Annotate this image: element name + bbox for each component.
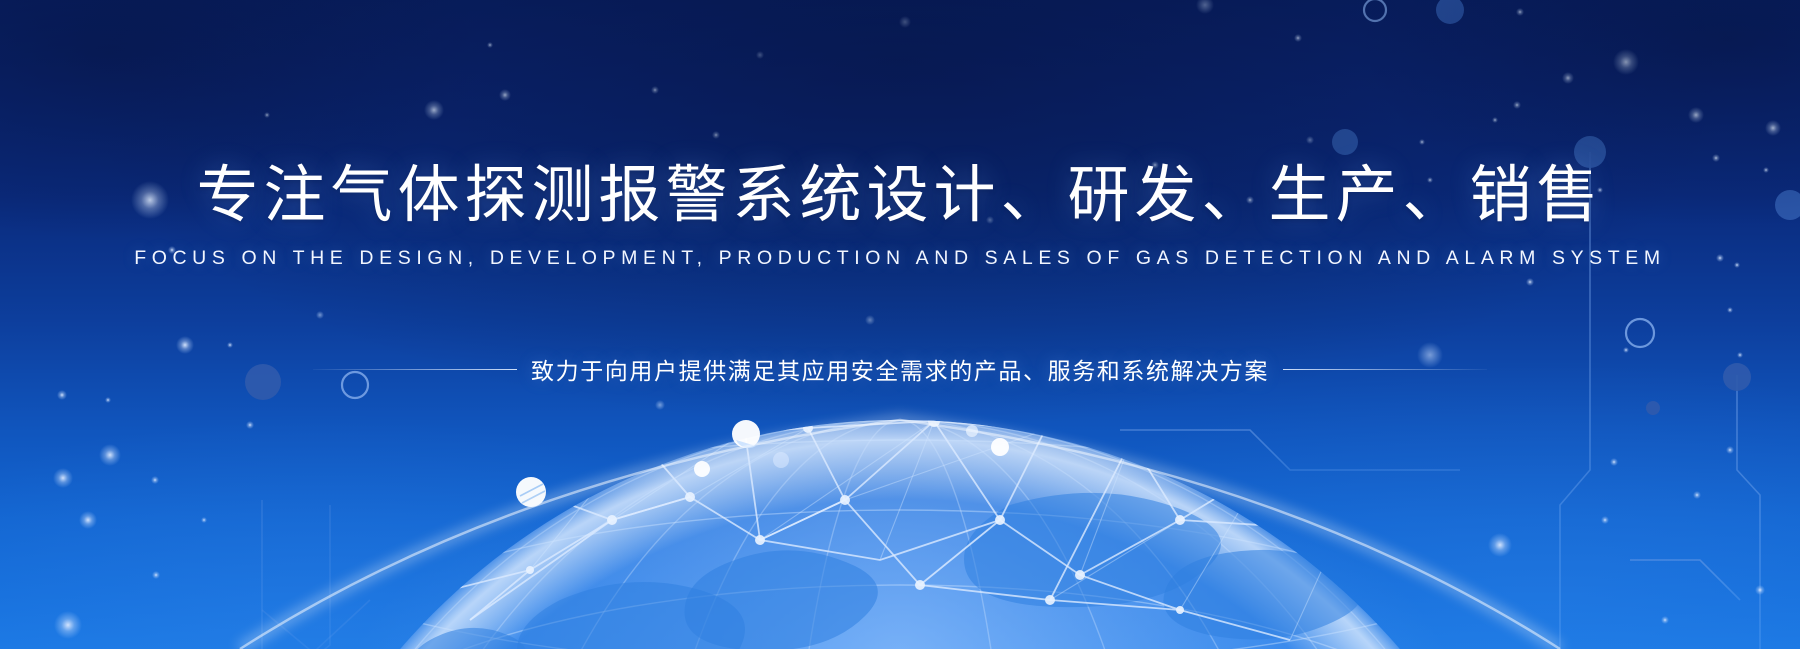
circuit-decoration-layer (0, 0, 1800, 649)
globe-network-graphic (0, 0, 1800, 649)
tagline-row: 致力于向用户提供满足其应用安全需求的产品、服务和系统解决方案 (0, 352, 1800, 386)
page-subtitle-english: FOCUS ON THE DESIGN, DEVELOPMENT, PRODUC… (0, 247, 1800, 270)
globe-highlight-nodes (516, 420, 1009, 507)
tagline-text: 致力于向用户提供满足其应用安全需求的产品、服务和系统解决方案 (517, 352, 1283, 386)
particle-field (53, 0, 1781, 639)
hero-banner: 专注气体探测报警系统设计、研发、生产、销售 FOCUS ON THE DESIG… (0, 0, 1800, 649)
background-glow-lower (0, 0, 1800, 649)
divider-rule-right (1283, 369, 1487, 370)
page-title: 专注气体探测报警系统设计、研发、生产、销售 (0, 163, 1800, 228)
background-glow-upper (0, 0, 1800, 649)
divider-rule-left (313, 369, 517, 370)
